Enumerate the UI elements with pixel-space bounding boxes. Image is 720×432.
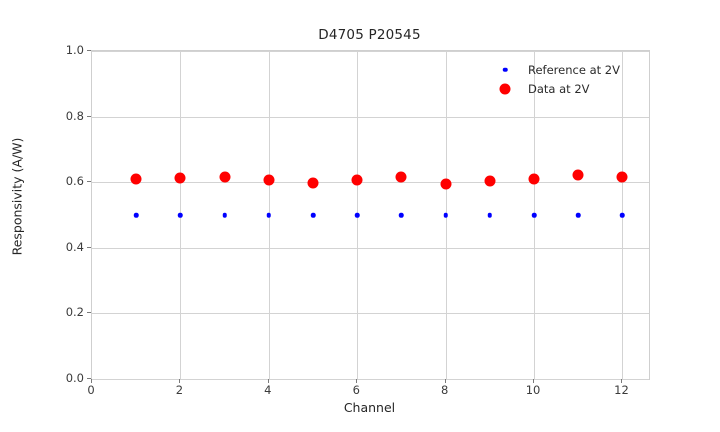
data-point bbox=[267, 213, 272, 218]
data-point bbox=[532, 213, 537, 218]
data-point bbox=[263, 174, 274, 185]
x-axis-label: Channel bbox=[91, 400, 648, 415]
data-point bbox=[440, 179, 451, 190]
gridline-horizontal bbox=[92, 51, 649, 52]
y-tick-mark bbox=[87, 116, 91, 117]
legend-marker-icon bbox=[503, 67, 508, 72]
x-axis-tick-labels: 024681012 bbox=[91, 383, 648, 399]
x-tick-mark bbox=[179, 379, 180, 383]
data-point bbox=[308, 177, 319, 188]
gridline-horizontal bbox=[92, 248, 649, 249]
data-point bbox=[134, 213, 139, 218]
data-point bbox=[399, 213, 404, 218]
page-title: D4705 P20545 bbox=[91, 27, 648, 43]
x-tick-mark bbox=[445, 379, 446, 383]
y-axis-label: Responsivity (A/W) bbox=[10, 117, 25, 277]
y-tick-label: 0.8 bbox=[66, 109, 84, 123]
x-tick-mark bbox=[356, 379, 357, 383]
y-tick-label: 0.6 bbox=[66, 174, 84, 188]
x-tick-label: 12 bbox=[614, 383, 629, 397]
data-point bbox=[396, 171, 407, 182]
x-tick-label: 2 bbox=[176, 383, 183, 397]
gridline-horizontal bbox=[92, 379, 649, 380]
data-point bbox=[576, 213, 581, 218]
x-tick-label: 6 bbox=[353, 383, 360, 397]
gridline-horizontal bbox=[92, 182, 649, 183]
data-point bbox=[484, 175, 495, 186]
legend-label: Data at 2V bbox=[528, 82, 590, 96]
data-point bbox=[617, 171, 628, 182]
x-tick-label: 4 bbox=[264, 383, 271, 397]
x-tick-mark bbox=[268, 379, 269, 383]
legend-label: Reference at 2V bbox=[528, 63, 620, 77]
data-point bbox=[131, 173, 142, 184]
data-point bbox=[219, 171, 230, 182]
legend-item[interactable]: Data at 2V bbox=[494, 79, 648, 98]
gridline-horizontal bbox=[92, 117, 649, 118]
y-tick-mark bbox=[87, 50, 91, 51]
legend: Reference at 2VData at 2V bbox=[494, 60, 648, 102]
x-tick-mark bbox=[621, 379, 622, 383]
y-axis-tick-labels: 0.00.20.40.60.81.0 bbox=[50, 50, 84, 378]
chart-page: D4705 P20545 Responsivity (A/W) Channel … bbox=[0, 0, 720, 432]
data-point bbox=[529, 174, 540, 185]
legend-item[interactable]: Reference at 2V bbox=[494, 60, 648, 79]
data-point bbox=[355, 213, 360, 218]
x-tick-label: 0 bbox=[87, 383, 94, 397]
y-tick-mark bbox=[87, 181, 91, 182]
data-point bbox=[443, 213, 448, 218]
y-tick-label: 0.0 bbox=[66, 371, 84, 385]
x-tick-label: 10 bbox=[526, 383, 541, 397]
y-tick-label: 0.4 bbox=[66, 240, 84, 254]
y-tick-label: 1.0 bbox=[66, 43, 84, 57]
x-tick-label: 8 bbox=[441, 383, 448, 397]
data-point bbox=[178, 213, 183, 218]
data-point bbox=[175, 173, 186, 184]
gridline-horizontal bbox=[92, 313, 649, 314]
data-point bbox=[352, 175, 363, 186]
legend-marker-icon bbox=[500, 83, 511, 94]
data-point bbox=[488, 213, 493, 218]
x-tick-mark bbox=[91, 379, 92, 383]
data-point bbox=[311, 213, 316, 218]
y-tick-mark bbox=[87, 247, 91, 248]
data-point bbox=[620, 213, 625, 218]
x-tick-mark bbox=[533, 379, 534, 383]
y-tick-label: 0.2 bbox=[66, 305, 84, 319]
data-point bbox=[573, 170, 584, 181]
data-point bbox=[222, 213, 227, 218]
y-tick-mark bbox=[87, 312, 91, 313]
